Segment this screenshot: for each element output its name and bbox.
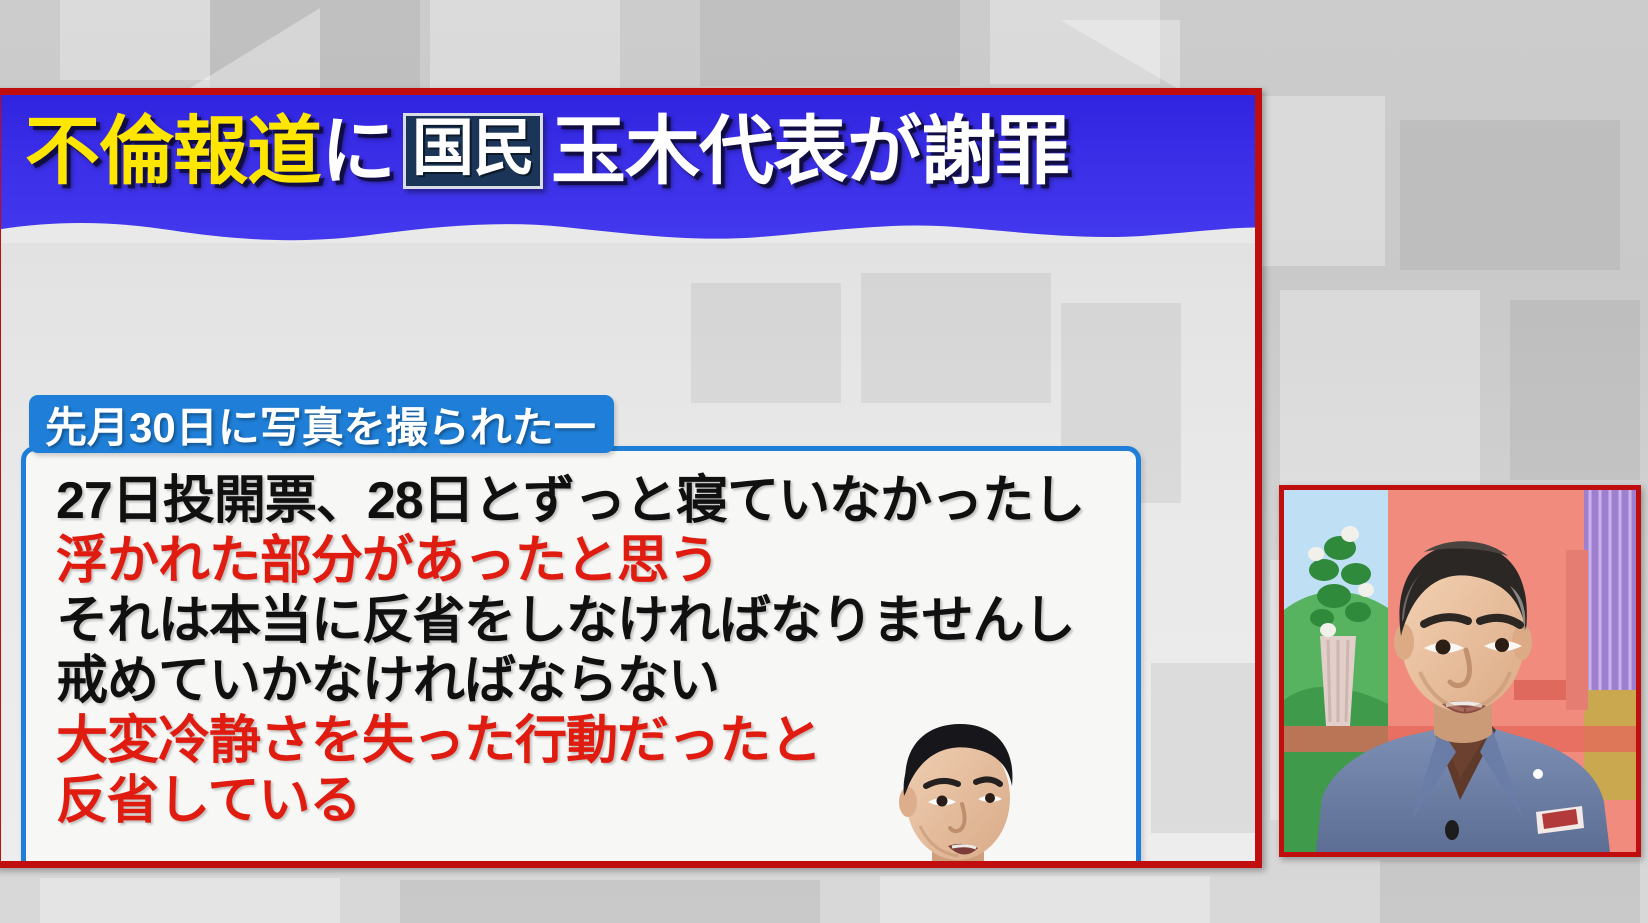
quote-line: それは本当に反省をしなければなりませんし [56,591,1126,651]
headline-topic: 不倫報道 [25,114,321,189]
quote-line: 反省している [56,771,1126,831]
headline-band: 不倫報道 に 国民 玉木代表が謝罪 [1,95,1255,243]
quote-line: 浮かれた部分があったと思う [56,531,1126,591]
quote-line: 大変冷静さを失った行動だったと [56,711,1126,771]
quote-text-block: 27日投開票、28日とずっと寝ていなかったし 浮かれた部分があったと思う それは… [56,471,1126,831]
headline-particle: に [321,114,395,189]
wave-divider [1,215,1255,243]
broadcast-screen: 不倫報道 に 国民 玉木代表が謝罪 先月30日に写真を撮られた一 [0,0,1648,923]
party-chip: 国民 [403,113,543,189]
quote-line: 27日投開票、28日とずっと寝ていなかったし [56,471,1126,531]
headline-subject: 玉木代表が謝罪 [551,114,1069,189]
panel-body: 先月30日に写真を撮られた一 [1,243,1255,861]
background-triangle [190,8,320,88]
news-panel: 不倫報道 に 国民 玉木代表が謝罪 先月30日に写真を撮られた一 [0,88,1262,868]
studio-pip-window [1279,485,1641,857]
quote-card: 27日投開票、28日とずっと寝ていなかったし 浮かれた部分があったと思う それは… [21,446,1141,868]
quote-line: 戒めていかなければならない [56,651,1126,711]
pip-presenter [1284,490,1636,852]
headline: 不倫報道 に 国民 玉木代表が謝罪 [25,113,1069,189]
sub-headline-ribbon: 先月30日に写真を撮られた一 [29,395,614,453]
